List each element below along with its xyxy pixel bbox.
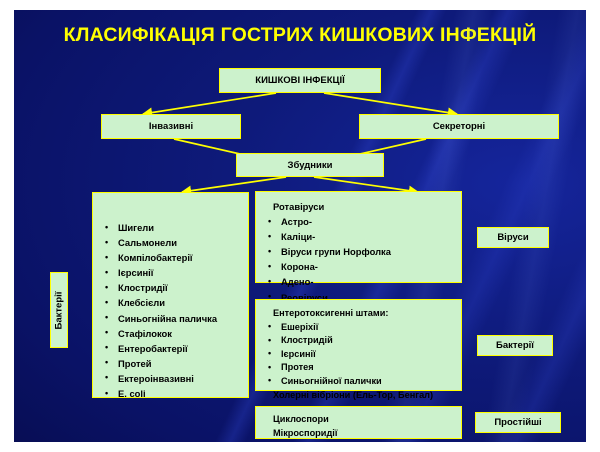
protozoa-list: Циклоспори Мікроспоридії [264,413,453,440]
list-item: Циклоспори [264,413,453,427]
side-label-viruses-text: Віруси [497,232,528,243]
side-label-bacteria-right-text: Бактерії [496,340,534,351]
flow-node-pathogens-label: Збудники [288,160,333,171]
flow-node-secretory-label: Секреторні [433,121,485,132]
flow-node-invasive-label: Інвазивні [149,121,193,132]
list-item: Каліци- [264,229,453,244]
side-label-viruses[interactable]: Віруси [477,227,549,248]
side-label-bacteria-left-text: Бактерії [54,291,65,329]
side-label-bacteria-left[interactable]: Бактерії [50,272,68,348]
list-item: Шигели [101,220,240,235]
list-item: Стафілокок [101,326,240,341]
list-item: Корона- [264,259,453,274]
bacteria-right-heading: Ентеротоксигенні штами: [264,307,453,321]
list-item: Ектероінвазивні [101,371,240,386]
list-item: Клебсієли [101,295,240,310]
panel-viruses[interactable]: Ротавіруси Астро- Каліци- Віруси групи Н… [255,191,462,283]
list-item: Клостридії [101,280,240,295]
bacteria-right-list: Ентеротоксигенні штами: Ешеріхії Клостри… [264,307,453,402]
viruses-list: Ротавіруси Астро- Каліци- Віруси групи Н… [264,199,453,305]
list-item: E. coli [101,386,240,401]
flow-node-secretory[interactable]: Секреторні [359,114,559,139]
list-item: Синьогнійна паличка [101,311,240,326]
panel-bacteria-left[interactable]: Шигели Сальмонели Компілобактерії Ієрсин… [92,192,249,398]
flow-node-root-label: КИШКОВІ ІНФЕКЦІЇ [255,75,344,86]
bacteria-left-list: Шигели Сальмонели Компілобактерії Ієрсин… [101,220,240,401]
list-item: Астро- [264,214,453,229]
panel-bacteria-right[interactable]: Ентеротоксигенні штами: Ешеріхії Клостри… [255,299,462,391]
list-item: Сальмонели [101,235,240,250]
list-item: Ієрсинії [101,265,240,280]
flow-node-pathogens[interactable]: Збудники [236,153,384,177]
list-item: Віруси групи Норфолка [264,244,453,259]
list-item: Ієрсинії [264,348,453,362]
list-item: Мікроспоридії [264,427,453,441]
list-item: Протея [264,361,453,375]
list-item: Адено- [264,274,453,289]
list-item: Компілобактерії [101,250,240,265]
list-item: Синьогнійної палички [264,375,453,389]
list-item: Клостридій [264,334,453,348]
flow-node-root[interactable]: КИШКОВІ ІНФЕКЦІЇ [219,68,381,93]
side-label-bacteria-right[interactable]: Бактерії [477,335,553,356]
list-item: Протей [101,356,240,371]
panel-protozoa[interactable]: Циклоспори Мікроспоридії [255,406,462,439]
viruses-heading: Ротавіруси [264,199,453,214]
flow-node-invasive[interactable]: Інвазивні [101,114,241,139]
list-item: Ешеріхії [264,321,453,335]
slide-canvas: КЛАСИФІКАЦІЯ ГОСТРИХ КИШКОВИХ ІНФЕКЦІЙ К… [14,10,586,442]
side-label-protozoa[interactable]: Простійші [475,412,561,433]
side-label-protozoa-text: Простійші [494,417,541,428]
list-item: Ентеробактерії [101,341,240,356]
bacteria-right-footer: Холерні вібріони (Ель-Тор, Бенгал) [264,389,453,403]
